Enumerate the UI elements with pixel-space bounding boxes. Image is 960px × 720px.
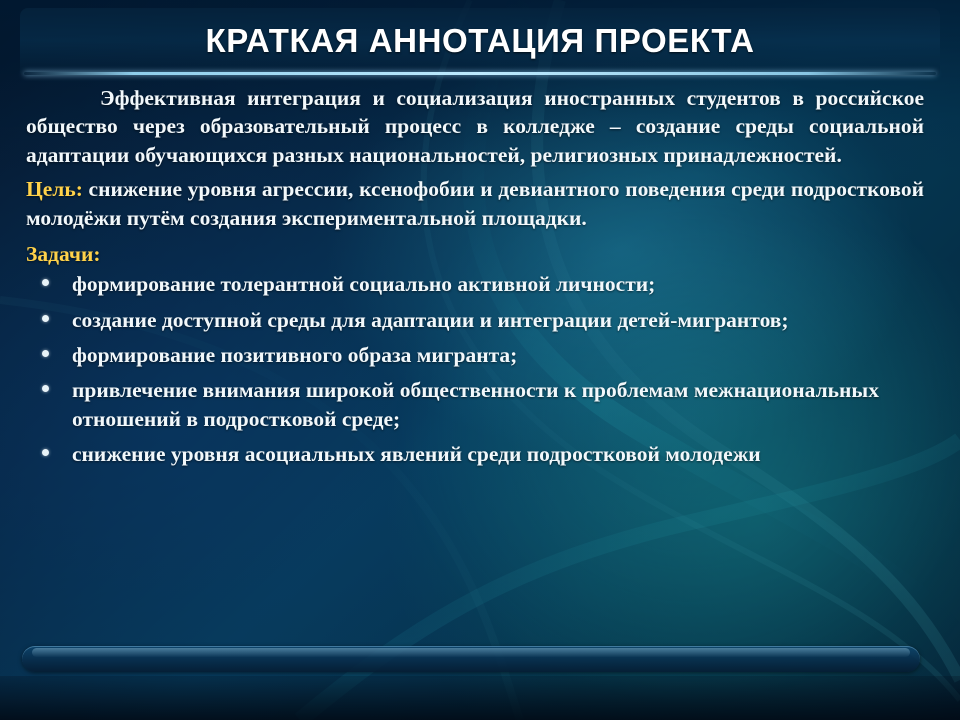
- bullet-icon: [42, 315, 49, 322]
- list-item: формирование позитивного образа мигранта…: [26, 341, 934, 369]
- list-item: снижение уровня асоциальных явлений сред…: [26, 440, 934, 468]
- list-item-text: привлечение внимания широкой общественно…: [72, 378, 879, 430]
- bullet-icon: [42, 350, 49, 357]
- page-title: КРАТКАЯ АННОТАЦИЯ ПРОЕКТА: [20, 22, 940, 60]
- list-item-text: создание доступной среды для адаптации и…: [72, 308, 789, 332]
- bullet-icon: [42, 279, 49, 286]
- bullet-icon: [42, 449, 49, 456]
- goal-block: Цель: снижение уровня агрессии, ксенофоб…: [26, 175, 934, 232]
- bottom-decorative-bar: [22, 646, 920, 672]
- goal-label: Цель:: [26, 177, 83, 201]
- bottom-bar-shine: [32, 648, 910, 657]
- bottom-strip: [0, 676, 960, 720]
- list-item: формирование толерантной социально актив…: [26, 270, 934, 298]
- intro-paragraph: Эффективная интеграция и социализация ин…: [26, 84, 934, 169]
- list-item: привлечение внимания широкой общественно…: [26, 376, 934, 433]
- slide-body: Эффективная интеграция и социализация ин…: [26, 84, 934, 654]
- tasks-list: формирование толерантной социально актив…: [26, 270, 934, 468]
- list-item: создание доступной среды для адаптации и…: [26, 306, 934, 334]
- tasks-label: Задачи:: [26, 242, 101, 266]
- list-item-text: формирование позитивного образа мигранта…: [72, 343, 517, 367]
- tasks-heading: Задачи:: [26, 240, 934, 268]
- list-item-text: формирование толерантной социально актив…: [72, 272, 655, 296]
- title-underline: [24, 72, 936, 75]
- slide-canvas: КРАТКАЯ АННОТАЦИЯ ПРОЕКТА Эффективная ин…: [0, 0, 960, 720]
- bullet-icon: [42, 385, 49, 392]
- list-item-text: снижение уровня асоциальных явлений сред…: [72, 442, 761, 466]
- title-bar: КРАТКАЯ АННОТАЦИЯ ПРОЕКТА: [20, 8, 940, 76]
- goal-text: снижение уровня агрессии, ксенофобии и д…: [26, 177, 924, 229]
